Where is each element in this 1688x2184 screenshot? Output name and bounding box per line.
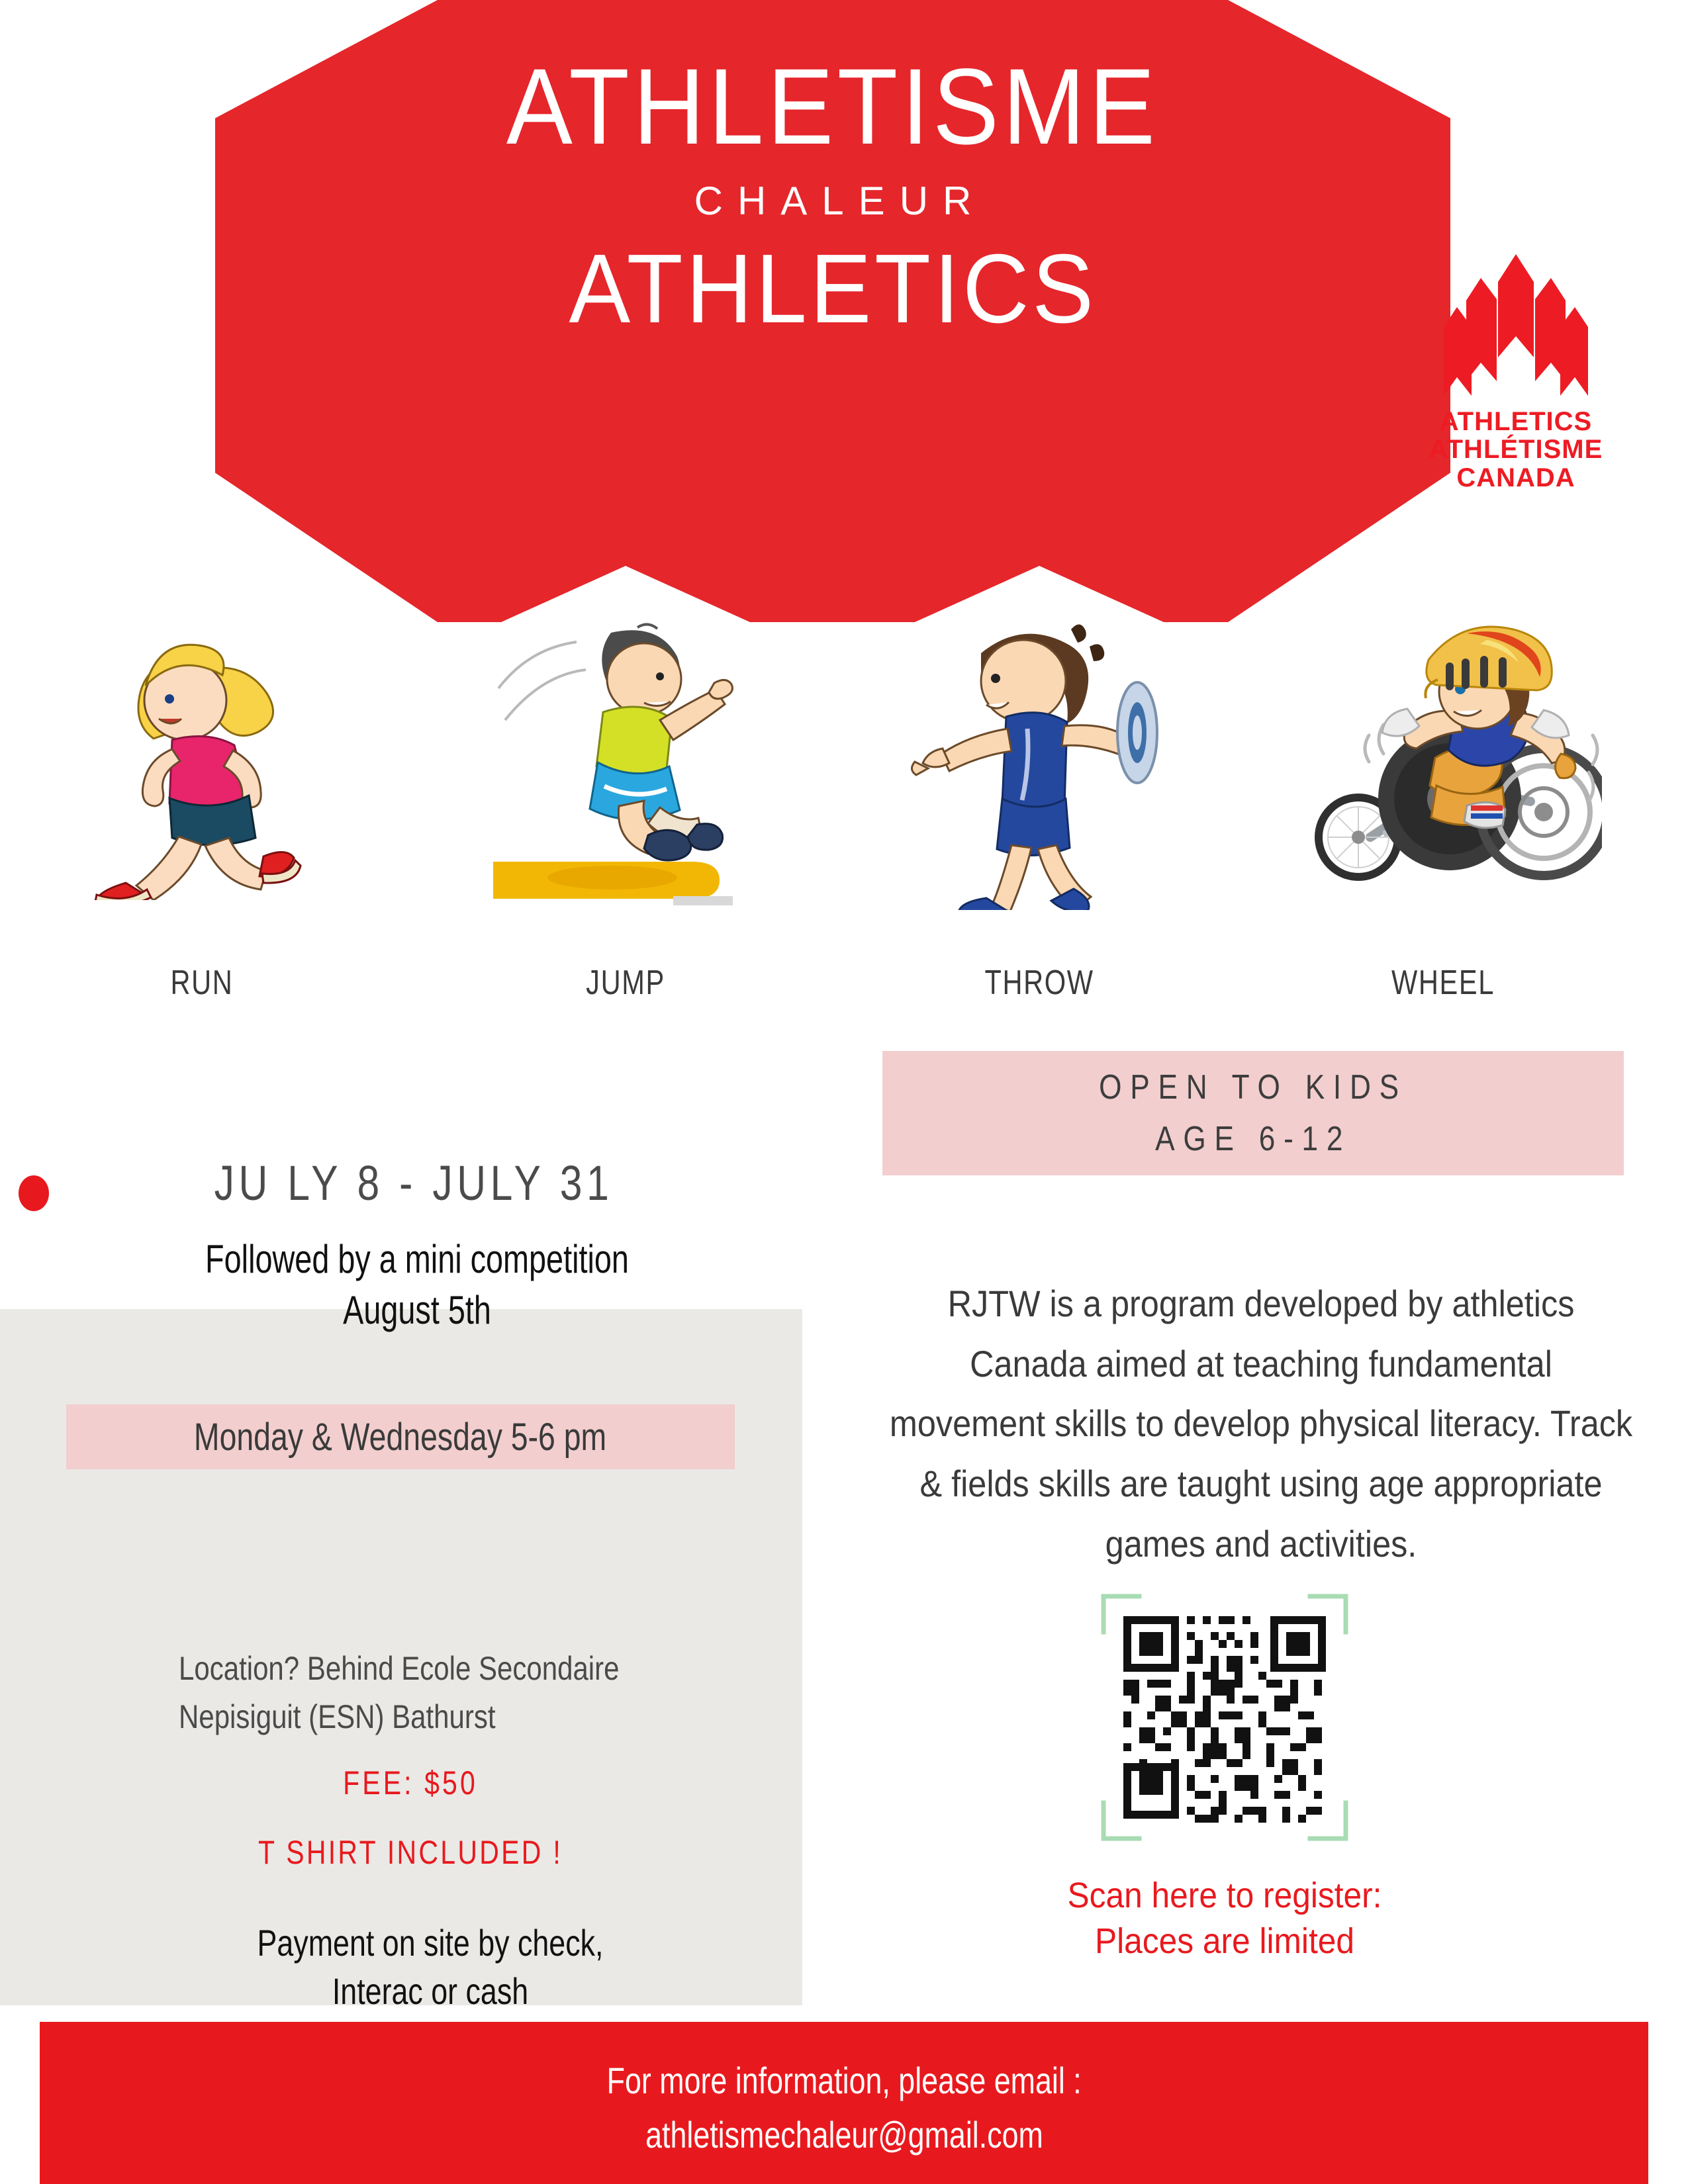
red-bullet-dot-icon — [19, 1175, 49, 1211]
hero-title-line1: ATHLETISME — [506, 52, 1159, 161]
payment-line2: Interac or cash — [165, 1968, 695, 2016]
program-dates: JU LY 8 - JULY 31 — [156, 1155, 672, 1211]
hero-title-line2: CHALEUR — [680, 181, 986, 221]
qr-code-registration-icon[interactable] — [1096, 1588, 1354, 1846]
mini-competition-line2: August 5th — [144, 1285, 691, 1336]
discipline-label-wheel: WHEEL — [1284, 963, 1602, 1003]
kids-banner-line1: OPEN TO KIDS — [1099, 1062, 1407, 1113]
location-line1: Location? Behind Ecole Secondaire — [179, 1645, 679, 1693]
fee-text: FEE: $50 — [220, 1764, 600, 1802]
hero-title-line3: ATHLETICS — [569, 240, 1096, 340]
logo-line-canada: CANADA — [1403, 464, 1628, 492]
discipline-card-throw: THROW — [841, 566, 1238, 956]
qr-caption-line2: Places are limited — [993, 1919, 1456, 1964]
mini-competition-note: Followed by a mini competition August 5t… — [144, 1234, 691, 1336]
contact-footer: For more information, please email : ath… — [40, 2022, 1648, 2184]
running-girl-icon — [3, 566, 400, 956]
athletics-canada-wordmark: ATHLETICS ATHLÉTISME CANADA — [1403, 408, 1628, 492]
discipline-card-wheel: WHEEL — [1244, 566, 1642, 956]
location-info: Location? Behind Ecole Secondaire Nepisi… — [179, 1645, 679, 1741]
qr-caption-line1: Scan here to register: — [993, 1873, 1456, 1919]
logo-line-athletics: ATHLETICS — [1403, 408, 1628, 435]
footer-email[interactable]: athletismechaleur@gmail.com — [645, 2108, 1043, 2161]
payment-line1: Payment on site by check, — [165, 1919, 695, 1968]
open-to-kids-banner: OPEN TO KIDS AGE 6-12 — [882, 1051, 1624, 1175]
athletics-canada-maple-leaf-icon — [1403, 251, 1628, 404]
mini-competition-line1: Followed by a mini competition — [144, 1234, 691, 1285]
footer-line1: For more information, please email : — [606, 2054, 1081, 2107]
discipline-label-run: RUN — [43, 963, 361, 1003]
discipline-label-jump: JUMP — [467, 963, 784, 1003]
kids-banner-line2: AGE 6-12 — [1155, 1113, 1351, 1165]
discipline-card-run: RUN — [3, 566, 400, 956]
schedule-banner: Monday & Wednesday 5-6 pm — [66, 1404, 735, 1469]
discus-thrower-boy-icon — [841, 566, 1238, 956]
long-jump-boy-icon — [427, 566, 824, 956]
tshirt-included-text: T SHIRT INCLUDED ! — [220, 1833, 600, 1872]
athletics-canada-logo: ATHLETICS ATHLÉTISME CANADA — [1403, 251, 1628, 529]
racing-wheelchair-kid-icon — [1244, 566, 1642, 956]
program-description: RJTW is a program developed by athletics… — [889, 1274, 1634, 1574]
location-line2: Nepisiguit (ESN) Bathurst — [179, 1693, 679, 1741]
schedule-text: Monday & Wednesday 5-6 pm — [194, 1415, 606, 1459]
discipline-hex-row: RUN — [0, 566, 1688, 1042]
poster-canvas: ATHLETISME CHALEUR ATHLETICS ATHLETICS A… — [0, 0, 1688, 2184]
hero-title-block: ATHLETISME CHALEUR ATHLETICS — [215, 0, 1450, 622]
payment-info: Payment on site by check, Interac or cas… — [165, 1919, 695, 2016]
qr-caption: Scan here to register: Places are limite… — [993, 1873, 1456, 1964]
discipline-card-jump: JUMP — [427, 566, 824, 956]
discipline-label-throw: THROW — [880, 963, 1198, 1003]
logo-line-athletisme: ATHLÉTISME — [1403, 435, 1628, 463]
